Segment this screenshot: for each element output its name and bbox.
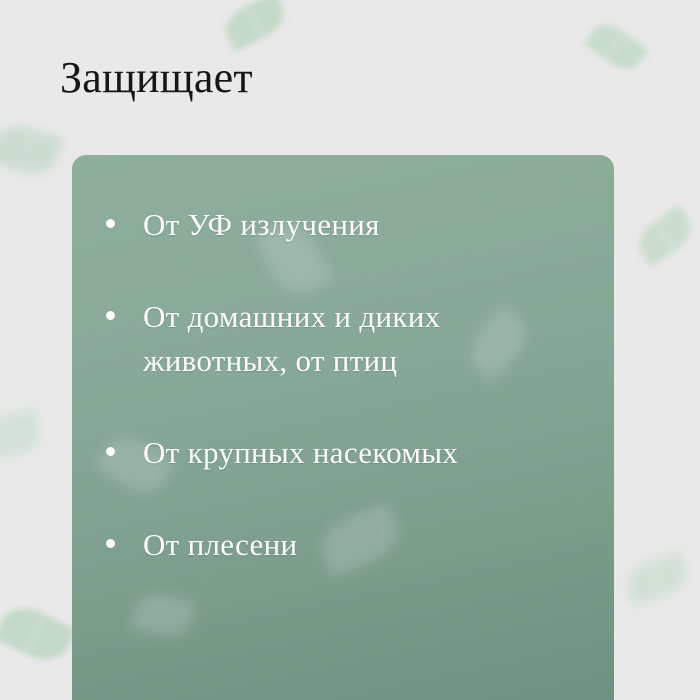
- list-item: От УФ излучения: [106, 203, 586, 247]
- leaf-icon: [631, 205, 699, 267]
- list-item-label: От крупных насекомых: [143, 431, 458, 475]
- leaf-icon: [0, 599, 76, 669]
- list-item-label: От УФ излучения: [143, 203, 380, 247]
- leaf-icon: [583, 16, 648, 77]
- bullet-dot-icon: [106, 539, 115, 548]
- leaf-icon: [219, 0, 291, 52]
- list-item-label: От домашних и диких животных, от птиц: [143, 295, 563, 383]
- leaf-icon: [0, 119, 63, 181]
- page-title: Защищает: [60, 55, 253, 101]
- leaf-vein: [26, 617, 44, 651]
- leaf-vein: [651, 564, 662, 595]
- leaf-vein: [656, 223, 674, 249]
- leaf-icon: [622, 551, 693, 606]
- leaf-vein: [607, 35, 626, 58]
- leaf-vein: [20, 132, 33, 168]
- slide-canvas: Защищает От УФ излученияОт домашних и ди…: [0, 0, 700, 700]
- bullet-dot-icon: [106, 311, 115, 320]
- list-item: От домашних и диких животных, от птиц: [106, 295, 586, 383]
- list-item-label: От плесени: [143, 523, 297, 567]
- leaf-vein: [7, 417, 15, 452]
- list-item: От плесени: [106, 523, 586, 567]
- leaf-icon: [0, 409, 43, 460]
- bullet-dot-icon: [106, 447, 115, 456]
- content-card: От УФ излученияОт домашних и диких живот…: [72, 155, 614, 700]
- protection-list: От УФ излученияОт домашних и диких живот…: [72, 155, 614, 615]
- leaf-vein: [248, 8, 263, 36]
- list-item: От крупных насекомых: [106, 431, 586, 475]
- bullet-dot-icon: [106, 219, 115, 228]
